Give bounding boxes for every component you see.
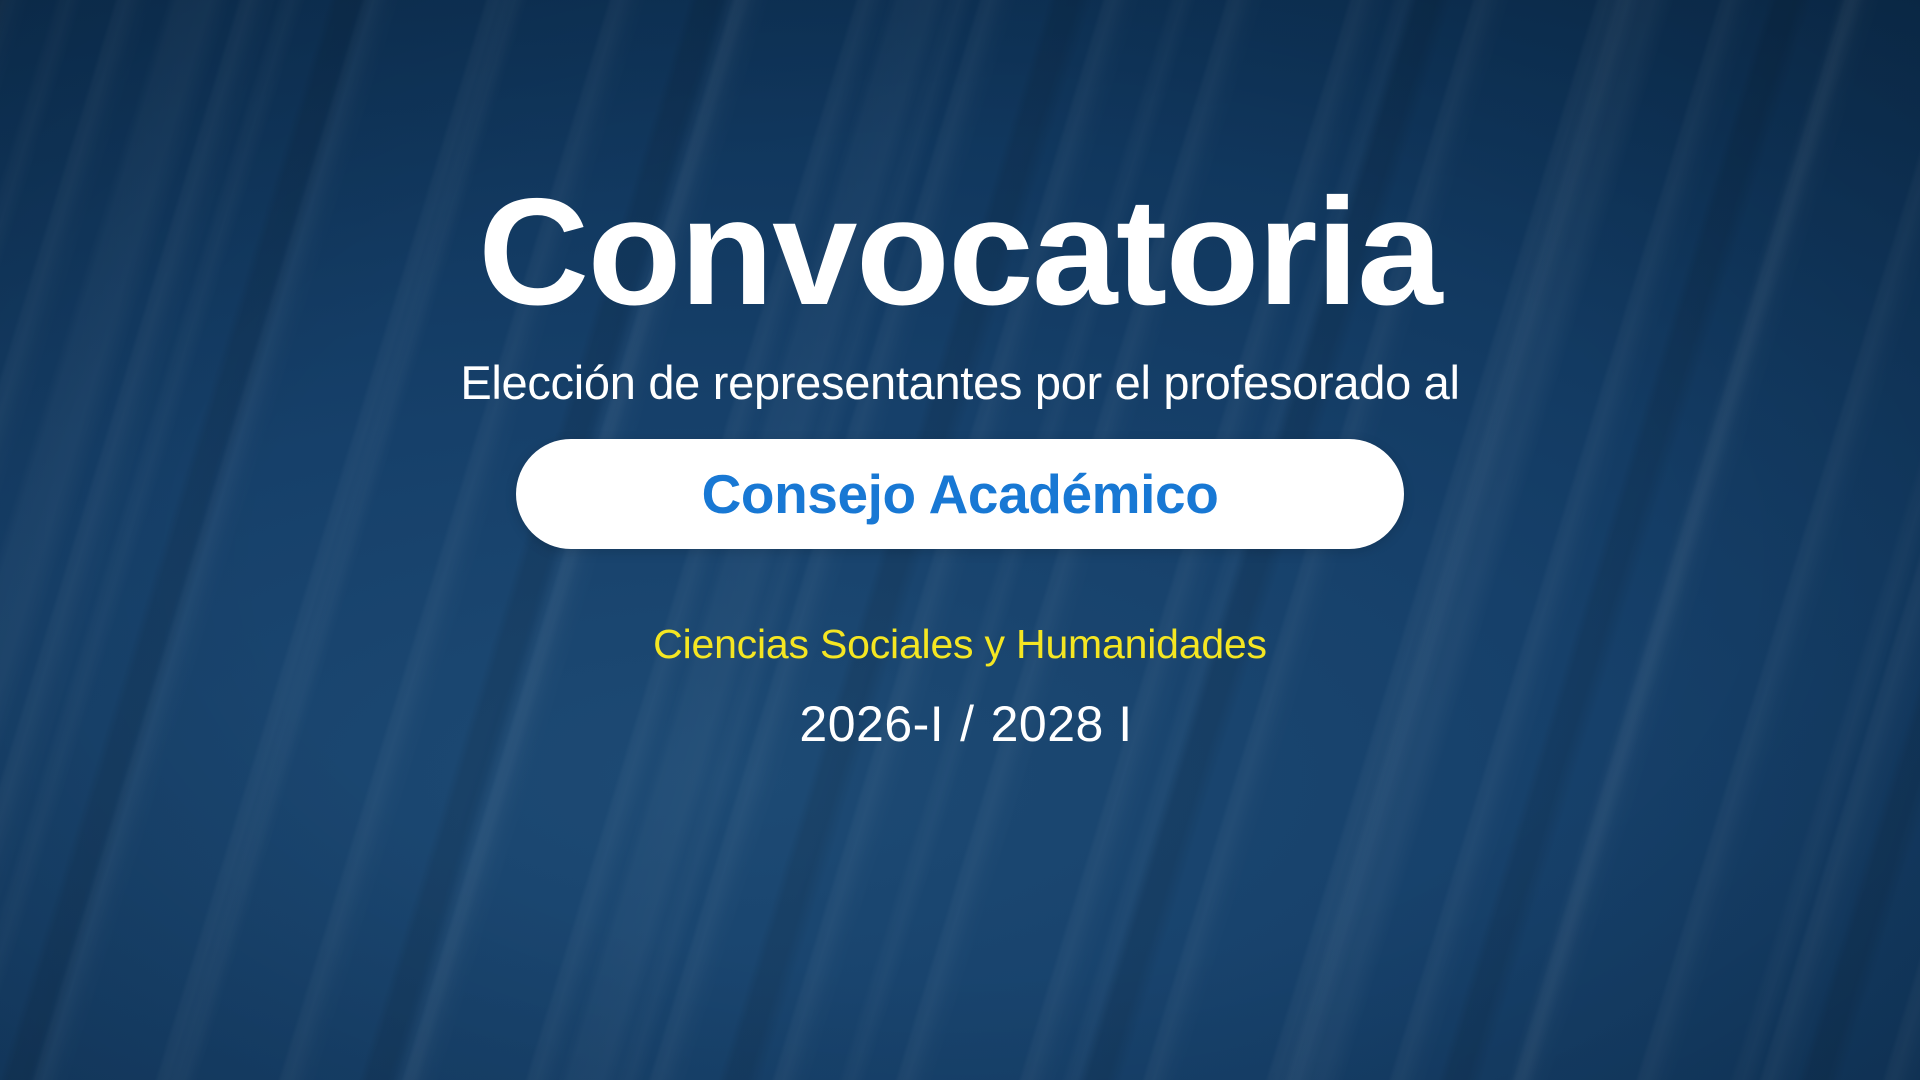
poster-subtitle: Elección de representantes por el profes… [460, 356, 1459, 410]
faculty-label: Ciencias Sociales y Humanidades [653, 621, 1267, 668]
poster-content: Convocatoria Elección de representantes … [0, 0, 1920, 1080]
consejo-academico-pill: Consejo Académico [516, 439, 1404, 549]
period-start: 2026-I [799, 696, 944, 752]
consejo-academico-label: Consejo Académico [702, 462, 1219, 526]
period-line: 2026-I/2028 I [787, 695, 1132, 753]
period-end: 2028 I [991, 696, 1133, 752]
page-title: Convocatoria [479, 176, 1442, 328]
period-separator: / [944, 696, 990, 752]
convocatoria-poster: Convocatoria Elección de representantes … [0, 0, 1920, 1080]
